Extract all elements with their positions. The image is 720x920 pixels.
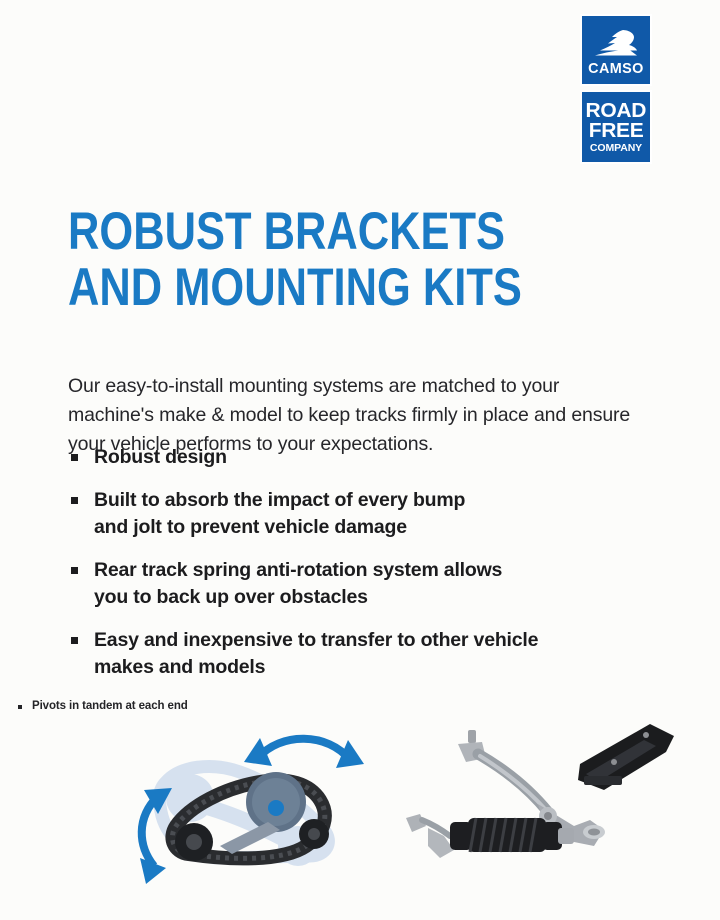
page-title: ROBUST BRACKETS AND MOUNTING KITS: [68, 204, 628, 316]
list-item: Rear track spring anti-rotation system a…: [68, 557, 638, 611]
list-item: Easy and inexpensive to transfer to othe…: [68, 627, 638, 681]
camso-mountain-mark: [593, 28, 639, 58]
feature-line: and jolt to prevent vehicle damage: [94, 514, 638, 541]
mounting-bracket: [578, 724, 674, 790]
page-title-line-2: AND MOUNTING KITS: [68, 260, 527, 316]
feature-list: Robust design Built to absorb the impact…: [68, 444, 638, 697]
feature-line: Built to absorb the impact of every bump: [94, 487, 638, 514]
square-bullet-icon: [71, 637, 78, 644]
feature-line: Robust design: [94, 444, 638, 471]
list-item: Built to absorb the impact of every bump…: [68, 487, 638, 541]
feature-line: you to back up over obstacles: [94, 584, 638, 611]
road-free-company-badge: ROAD FREE COMPANY: [580, 90, 652, 164]
page-title-line-1: ROBUST BRACKETS: [68, 204, 527, 260]
drive-sprocket: [246, 772, 306, 832]
road-free-line-2: FREE: [589, 121, 644, 141]
logo-stack: CAMSO ROAD FREE COMPANY: [580, 14, 652, 164]
feature-line: Easy and inexpensive to transfer to othe…: [94, 627, 638, 654]
road-free-line-1: ROAD: [586, 101, 647, 121]
square-bullet-icon: [71, 567, 78, 574]
footnote-text: Pivots in tandem at each end: [32, 700, 188, 712]
track-diagram-svg: [128, 726, 388, 896]
illustration-row: [0, 718, 720, 903]
square-bullet-icon: [71, 454, 78, 461]
marketing-page: CAMSO ROAD FREE COMPANY ROBUST BRACKETS …: [0, 0, 720, 920]
square-bullet-icon: [71, 497, 78, 504]
list-item: Robust design: [68, 444, 638, 471]
square-bullet-icon: [18, 705, 22, 709]
footnote-caption: Pivots in tandem at each end: [18, 700, 188, 712]
track-system-pivot-diagram: [128, 726, 388, 896]
feature-line: makes and models: [94, 654, 638, 681]
hardware-photo-group: [398, 718, 698, 890]
feature-line: Rear track spring anti-rotation system a…: [94, 557, 638, 584]
road-free-line-3: COMPANY: [590, 143, 642, 154]
hardware-svg: [398, 718, 698, 890]
pivot-arrow-top: [244, 738, 364, 768]
camso-wordmark: CAMSO: [588, 61, 644, 76]
camso-logo-badge: CAMSO: [580, 14, 652, 86]
